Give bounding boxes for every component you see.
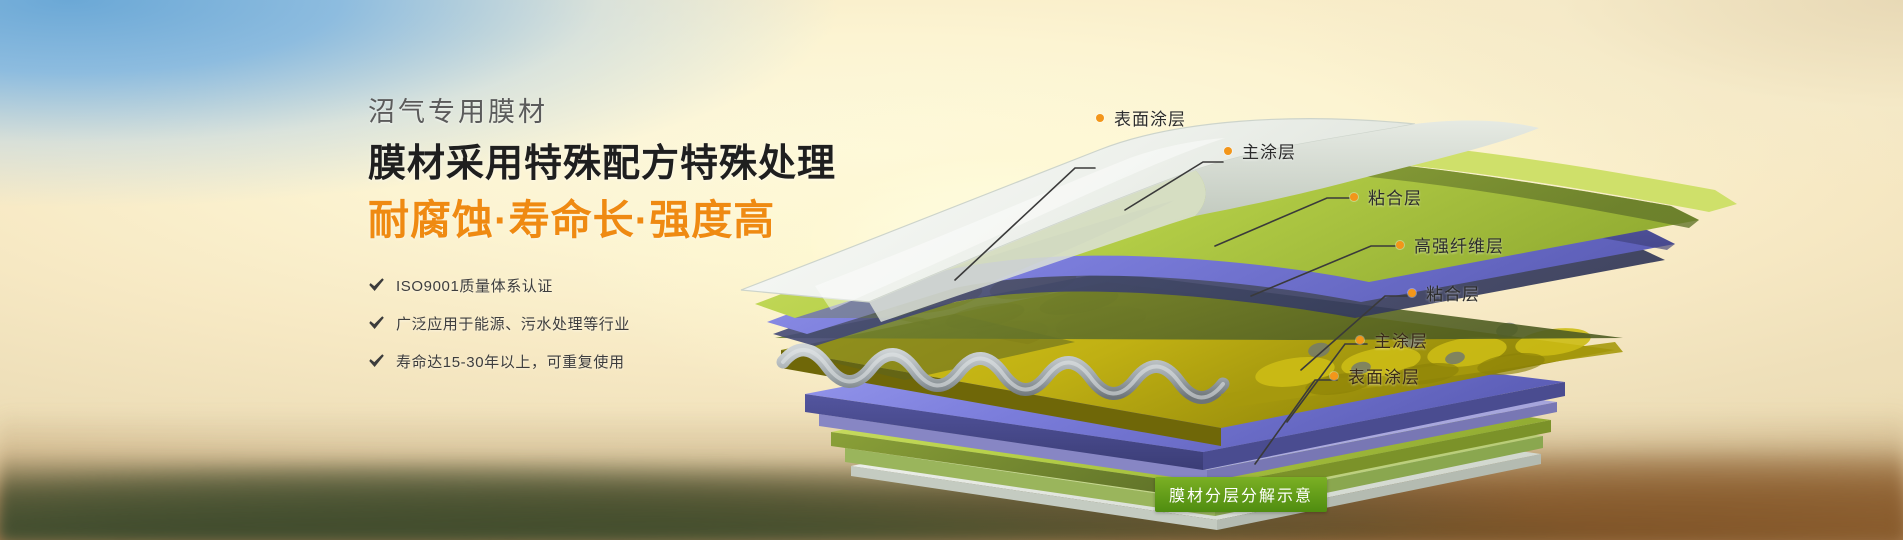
callout-label: 粘合层 bbox=[1426, 280, 1480, 305]
callout-label: 高强纤维层 bbox=[1414, 232, 1504, 257]
diagram-caption-badge: 膜材分层分解示意 bbox=[1155, 477, 1327, 512]
callout-label: 主涂层 bbox=[1242, 138, 1296, 163]
callout-label: 表面涂层 bbox=[1348, 363, 1420, 388]
check-icon bbox=[368, 315, 385, 332]
callout-dot-icon bbox=[1224, 147, 1232, 155]
callout-adhesive-bottom: 粘合层 bbox=[1408, 280, 1480, 305]
callout-main-coat-bottom: 主涂层 bbox=[1356, 327, 1428, 352]
check-icon bbox=[368, 277, 385, 294]
callout-dot-icon bbox=[1350, 193, 1358, 201]
check-icon bbox=[368, 353, 385, 370]
callout-label: 粘合层 bbox=[1368, 184, 1422, 209]
feature-label: 寿命达15-30年以上，可重复使用 bbox=[396, 351, 625, 372]
membrane-layer-diagram bbox=[655, 50, 1903, 540]
callout-fiber-layer: 高强纤维层 bbox=[1396, 232, 1504, 257]
callout-main-coat-top: 主涂层 bbox=[1224, 138, 1296, 163]
callout-dot-icon bbox=[1356, 336, 1364, 344]
feature-label: 广泛应用于能源、污水处理等行业 bbox=[396, 313, 630, 334]
callout-dot-icon bbox=[1408, 289, 1416, 297]
callout-label: 表面涂层 bbox=[1114, 105, 1186, 130]
hero-banner: 沼气专用膜材 膜材采用特殊配方特殊处理 耐腐蚀·寿命长·强度高 ISO9001质… bbox=[0, 0, 1903, 540]
callout-surface-coat-top: 表面涂层 bbox=[1096, 105, 1186, 130]
callout-dot-icon bbox=[1330, 372, 1338, 380]
callout-adhesive-top: 粘合层 bbox=[1350, 184, 1422, 209]
callout-dot-icon bbox=[1396, 241, 1404, 249]
callout-surface-coat-bottom: 表面涂层 bbox=[1330, 363, 1420, 388]
callout-label: 主涂层 bbox=[1374, 327, 1428, 352]
feature-label: ISO9001质量体系认证 bbox=[396, 275, 553, 296]
callout-dot-icon bbox=[1096, 114, 1104, 122]
